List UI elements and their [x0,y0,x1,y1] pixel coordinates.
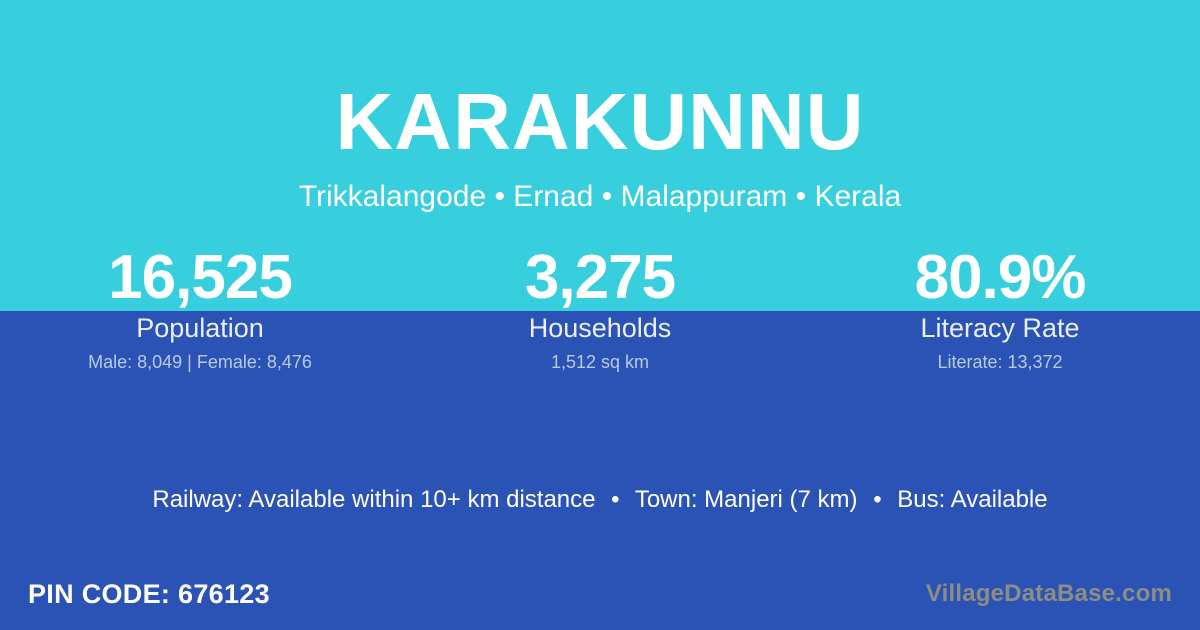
stat-value-literacy-rate: 80.9% [800,246,1200,310]
village-info-card: KARAKUNNU Trikkalangode • Ernad • Malapp… [0,0,1200,630]
stat-sub-households: 1,512 sq km [400,351,800,373]
connectivity-info-line: Railway: Available within 10+ km distanc… [0,485,1200,515]
stat-label-population: Population [0,313,400,343]
breadcrumb: Trikkalangode • Ernad • Malappuram • Ker… [0,162,1200,213]
site-brand-watermark: VillageDataBase.com [926,580,1172,608]
stats-row: 16,525 Population Male: 8,049 | Female: … [0,246,1200,373]
info-town: Town: Manjeri (7 km) [635,486,858,513]
stat-sub-population: Male: 8,049 | Female: 8,476 [0,351,400,373]
info-railway: Railway: Available within 10+ km distanc… [152,486,595,513]
stat-label-literacy-rate: Literacy Rate [800,313,1200,343]
info-separator-2: • [864,486,890,513]
page-title: KARAKUNNU [0,0,1200,162]
stat-population: 16,525 Population Male: 8,049 | Female: … [0,246,400,373]
info-separator-1: • [602,486,628,513]
stat-households: 3,275 Households 1,512 sq km [400,246,800,373]
footer: PIN CODE: 676123 VillageDataBase.com [0,558,1200,630]
stat-literacy-rate: 80.9% Literacy Rate Literate: 13,372 [800,246,1200,373]
hero-section: KARAKUNNU Trikkalangode • Ernad • Malapp… [0,0,1200,213]
pin-code: PIN CODE: 676123 [28,579,270,609]
info-bus: Bus: Available [897,486,1047,513]
stat-value-households: 3,275 [400,246,800,310]
stat-sub-literacy-rate: Literate: 13,372 [800,351,1200,373]
stat-value-population: 16,525 [0,246,400,310]
stat-label-households: Households [400,313,800,343]
